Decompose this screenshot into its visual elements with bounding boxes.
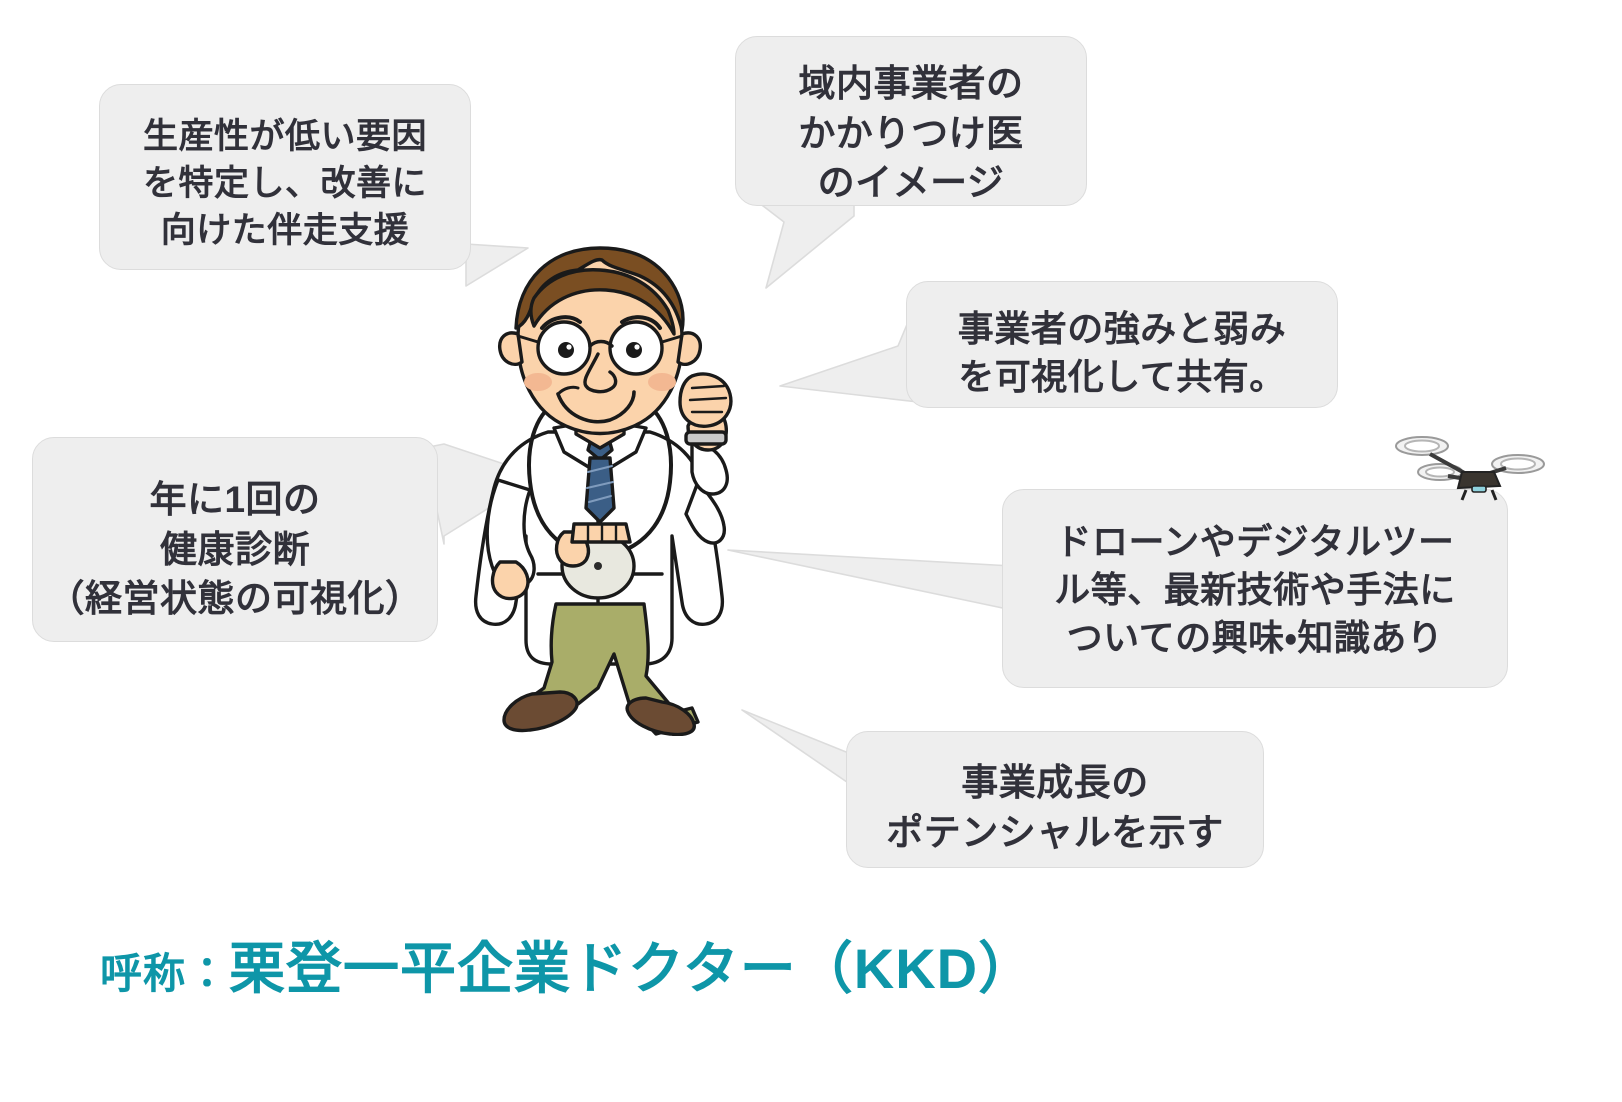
bubble-line: 事業者の強みと弱み xyxy=(907,305,1337,353)
family-doctor-image-bubble: 域内事業者の かかりつけ医 のイメージ xyxy=(735,36,1087,206)
caption-lead: 呼称： xyxy=(100,950,229,997)
figure-canvas: 生産性が低い要因 を特定し、改善に 向けた伴走支援 域内事業者の かかりつけ医 … xyxy=(0,0,1622,1102)
annual-checkup-bubble: 年に1回の 健康診断 （経営状態の可視化） xyxy=(32,437,438,642)
bubble-line: を可視化して共有。 xyxy=(907,353,1337,401)
bubble-line: かかりつけ医 xyxy=(736,109,1086,159)
bubble-line: 健康診断 xyxy=(33,525,437,575)
productivity-support-bubble: 生産性が低い要因 を特定し、改善に 向けた伴走支援 xyxy=(99,84,471,270)
caption-title: 栗登一平企業ドクター（KKD） xyxy=(229,937,1035,1000)
bubble-line: 生産性が低い要因 xyxy=(100,114,470,161)
strengths-weaknesses-bubble: 事業者の強みと弱み を可視化して共有。 xyxy=(906,281,1338,408)
bubble-line: のイメージ xyxy=(736,158,1086,208)
bubble-line: 向けた伴走支援 xyxy=(100,208,470,255)
bubble-line: 年に1回の xyxy=(33,475,437,525)
bubble-line: ついての興味・知識あり xyxy=(1003,614,1507,662)
bubble-line: を特定し、改善に xyxy=(100,161,470,208)
bubble-line: 事業成長の xyxy=(847,758,1263,808)
growth-potential-bubble: 事業成長の ポテンシャルを示す xyxy=(846,731,1264,868)
bubble-line: 域内事業者の xyxy=(736,59,1086,109)
bubble-line: ポテンシャルを示す xyxy=(847,808,1263,858)
company-doctor-illustration xyxy=(430,236,770,736)
drone-icon xyxy=(1378,424,1558,514)
drone-digital-tools-bubble: ドローンやデジタルツー ル等、最新技術や手法に ついての興味・知識あり xyxy=(1002,489,1508,688)
bubble-line: ドローンやデジタルツー xyxy=(1003,518,1507,566)
bubble-line: ル等、最新技術や手法に xyxy=(1003,566,1507,614)
bubble-line: （経営状態の可視化） xyxy=(33,574,437,624)
figure-caption: 呼称：栗登一平企業ドクター（KKD） xyxy=(100,924,1035,1005)
